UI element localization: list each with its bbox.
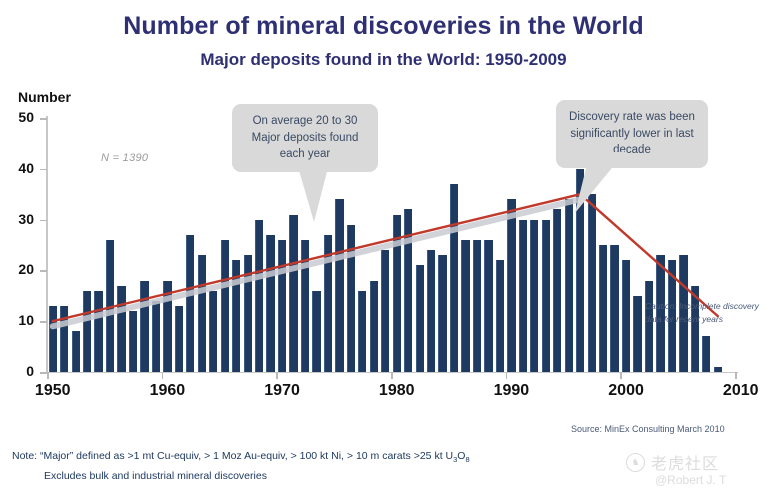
footnote-definition-text: Note: “Major” defined as >1 mt Cu-equiv,…	[12, 450, 453, 462]
rising-trend	[53, 194, 580, 321]
caution-note: Caution: Incomplete discovery data for r…	[645, 300, 763, 326]
x-axis-tick-label: 2000	[608, 382, 644, 400]
x-axis-tick	[47, 372, 49, 379]
x-axis-tick-label: 1960	[150, 382, 186, 400]
x-axis-tick-label: 1980	[379, 382, 415, 400]
footnote-sub-8: 8	[465, 455, 469, 464]
y-axis-tick-label: 40	[0, 160, 34, 176]
x-axis-tick	[276, 372, 278, 379]
source-note: Source: MinEx Consulting March 2010	[571, 424, 725, 434]
trend-shadow	[53, 199, 580, 326]
footnote-exclusions: Excludes bulk and industrial mineral dis…	[44, 470, 267, 482]
x-axis-tick	[620, 372, 622, 379]
y-axis-tick	[40, 372, 47, 374]
y-axis-tick-label: 10	[0, 312, 34, 328]
y-axis-tick	[40, 118, 47, 120]
sample-size-label: N = 1390	[101, 152, 148, 164]
callout-average-rate: On average 20 to 30 Major deposits found…	[232, 104, 378, 172]
chart-subtitle: Major deposits found in the World: 1950-…	[0, 50, 767, 70]
y-axis-tick	[40, 169, 47, 171]
y-axis-tick	[40, 220, 47, 222]
falling-trend	[580, 194, 718, 316]
y-axis-tick	[40, 321, 47, 323]
footnote-definition: Note: “Major” defined as >1 mt Cu-equiv,…	[12, 450, 470, 464]
y-axis-tick-label: 50	[0, 109, 34, 125]
y-axis-tick-label: 30	[0, 211, 34, 227]
watermark-text: 老虎社区	[651, 450, 719, 474]
x-axis-tick-label: 2010	[723, 382, 759, 400]
x-axis-tick-label: 1990	[494, 382, 530, 400]
x-axis-tick-label: 1970	[264, 382, 300, 400]
watermark-logo-icon: ♞	[626, 453, 645, 472]
x-axis-tick	[391, 372, 393, 379]
x-axis-tick-label: 1950	[35, 382, 71, 400]
watermark: ♞ 老虎社区	[626, 450, 719, 474]
y-axis-label: Number	[18, 89, 71, 105]
y-axis-tick-label: 0	[0, 363, 34, 379]
chart-title: Number of mineral discoveries in the Wor…	[0, 12, 767, 41]
y-axis-tick	[40, 270, 47, 272]
x-axis-tick	[735, 372, 737, 379]
chart-canvas: Number of mineral discoveries in the Wor…	[0, 0, 767, 498]
x-axis-tick	[506, 372, 508, 379]
watermark-handle: @Robert J. T	[655, 473, 726, 487]
callout-declining-rate: Discovery rate was been significantly lo…	[556, 100, 708, 168]
y-axis-tick-label: 20	[0, 261, 34, 277]
x-axis-tick	[162, 372, 164, 379]
